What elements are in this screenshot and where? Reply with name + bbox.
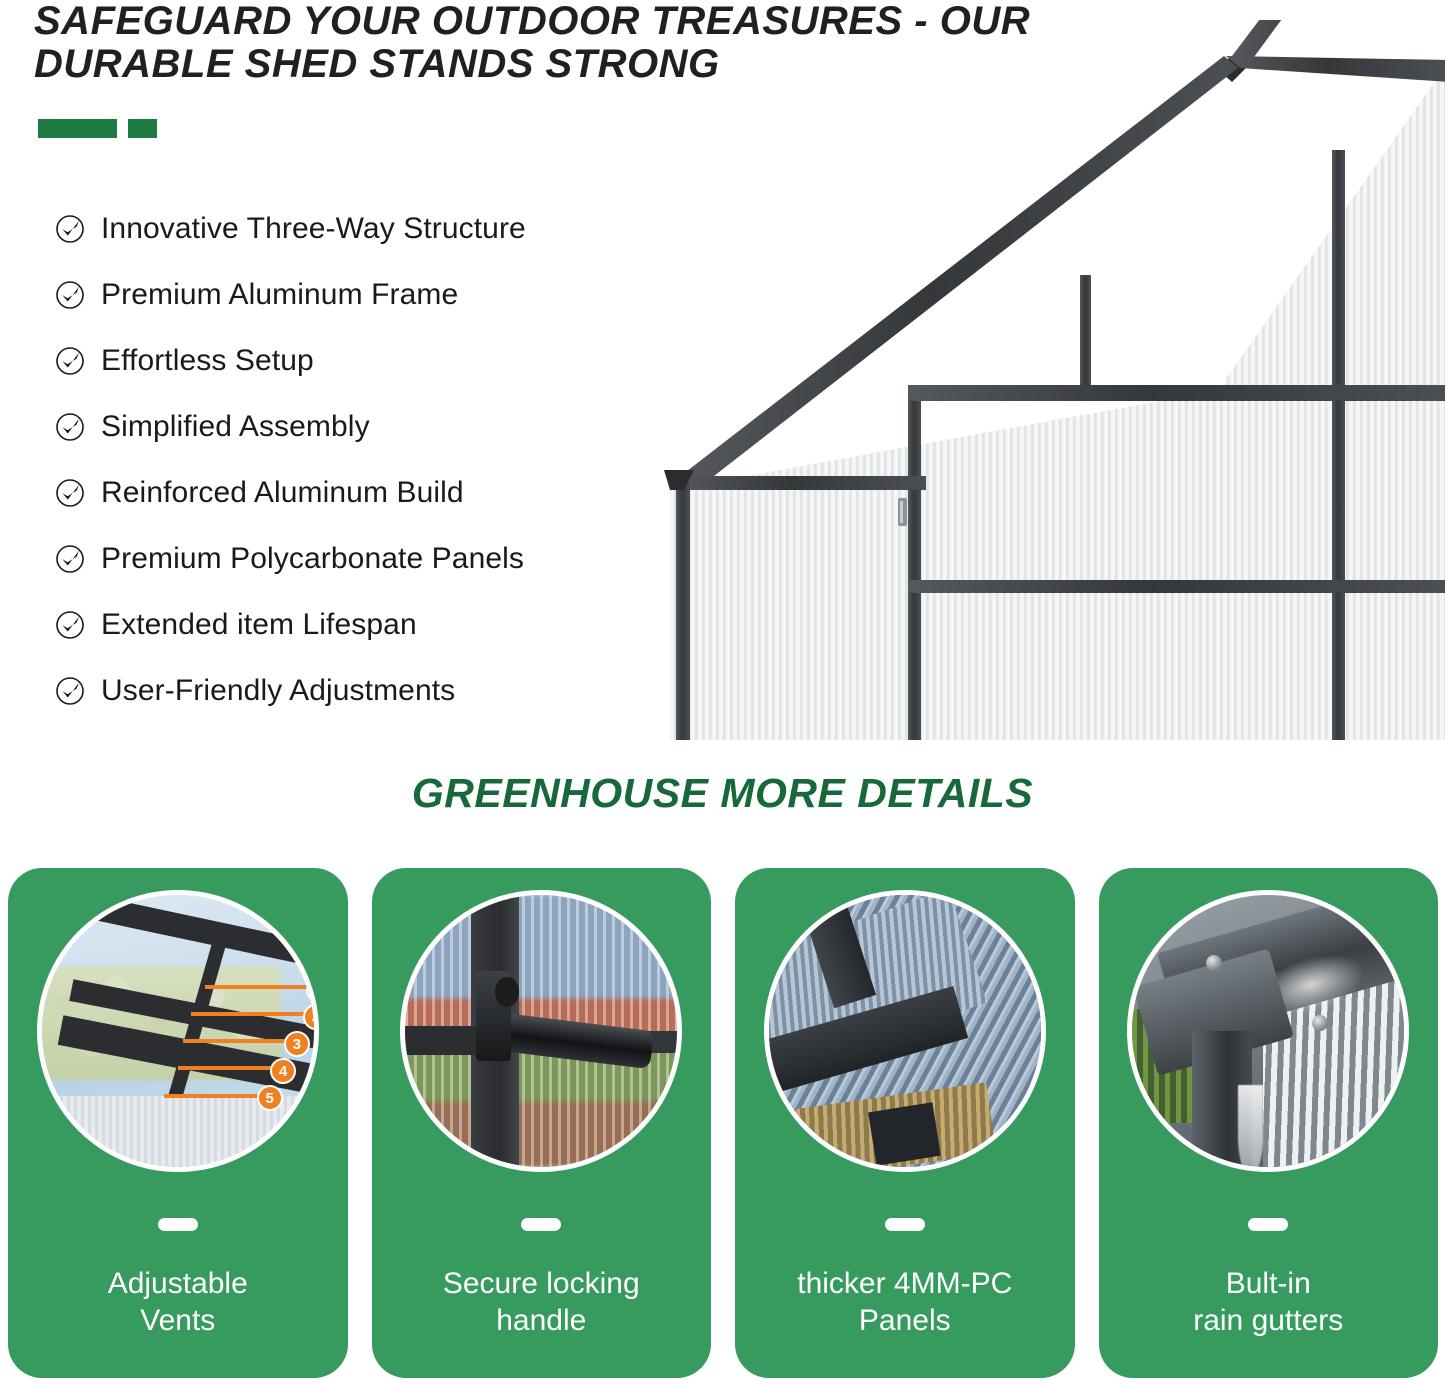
list-item: Extended item Lifespan — [55, 592, 695, 658]
check-circle-icon — [55, 280, 85, 310]
feature-label: User-Friendly Adjustments — [101, 674, 455, 708]
check-circle-icon — [55, 478, 85, 508]
feature-label: Extended item Lifespan — [101, 608, 417, 642]
feature-label: Effortless Setup — [101, 344, 314, 378]
card-label: Secure locking handle — [372, 1266, 712, 1339]
detail-card-adjustable-vents[interactable]: 1 2 3 4 5 Adjustable Vents — [8, 868, 348, 1378]
list-item: User-Friendly Adjustments — [55, 658, 695, 724]
card-label: thicker 4MM-PC Panels — [735, 1266, 1075, 1339]
polycarbonate-panel-photo — [764, 890, 1046, 1172]
check-circle-icon — [55, 412, 85, 442]
feature-label: Premium Aluminum Frame — [101, 278, 458, 312]
list-item: Innovative Three-Way Structure — [55, 196, 695, 262]
accent-bar-short — [128, 119, 157, 138]
feature-label: Reinforced Aluminum Build — [101, 476, 464, 510]
detail-card-list: 1 2 3 4 5 Adjustable Vents Secur — [8, 868, 1438, 1378]
feature-list: Innovative Three-Way Structure Premium A… — [55, 196, 695, 724]
feature-label: Innovative Three-Way Structure — [101, 212, 526, 246]
list-item: Reinforced Aluminum Build — [55, 460, 695, 526]
feature-label: Simplified Assembly — [101, 410, 370, 444]
list-item: Premium Aluminum Frame — [55, 262, 695, 328]
card-divider — [885, 1218, 925, 1231]
adjustable-vent-photo: 1 2 3 4 5 — [37, 890, 319, 1172]
section-heading: GREENHOUSE MORE DETAILS — [0, 770, 1445, 817]
card-label: Bult-in rain gutters — [1099, 1266, 1439, 1339]
check-circle-icon — [55, 610, 85, 640]
detail-card-pc-panels[interactable]: thicker 4MM-PC Panels — [735, 868, 1075, 1378]
detail-card-locking-handle[interactable]: Secure locking handle — [372, 868, 712, 1378]
locking-handle-photo — [400, 890, 682, 1172]
accent-bar-group — [38, 119, 157, 138]
detail-card-rain-gutters[interactable]: Bult-in rain gutters — [1099, 868, 1439, 1378]
card-divider — [158, 1218, 198, 1231]
list-item: Premium Polycarbonate Panels — [55, 526, 695, 592]
check-circle-icon — [55, 346, 85, 376]
greenhouse-shed-illustration — [660, 20, 1445, 740]
list-item: Effortless Setup — [55, 328, 695, 394]
check-circle-icon — [55, 544, 85, 574]
card-divider — [1248, 1218, 1288, 1231]
check-circle-icon — [55, 676, 85, 706]
card-divider — [521, 1218, 561, 1231]
accent-bar-long — [38, 119, 117, 138]
hero-section: SAFEGUARD YOUR OUTDOOR TREASURES - OUR D… — [0, 0, 1445, 760]
feature-label: Premium Polycarbonate Panels — [101, 542, 524, 576]
rain-gutter-photo — [1127, 890, 1409, 1172]
callout-badge-3: 3 — [284, 1031, 310, 1057]
check-circle-icon — [55, 214, 85, 244]
card-label: Adjustable Vents — [8, 1266, 348, 1339]
list-item: Simplified Assembly — [55, 394, 695, 460]
